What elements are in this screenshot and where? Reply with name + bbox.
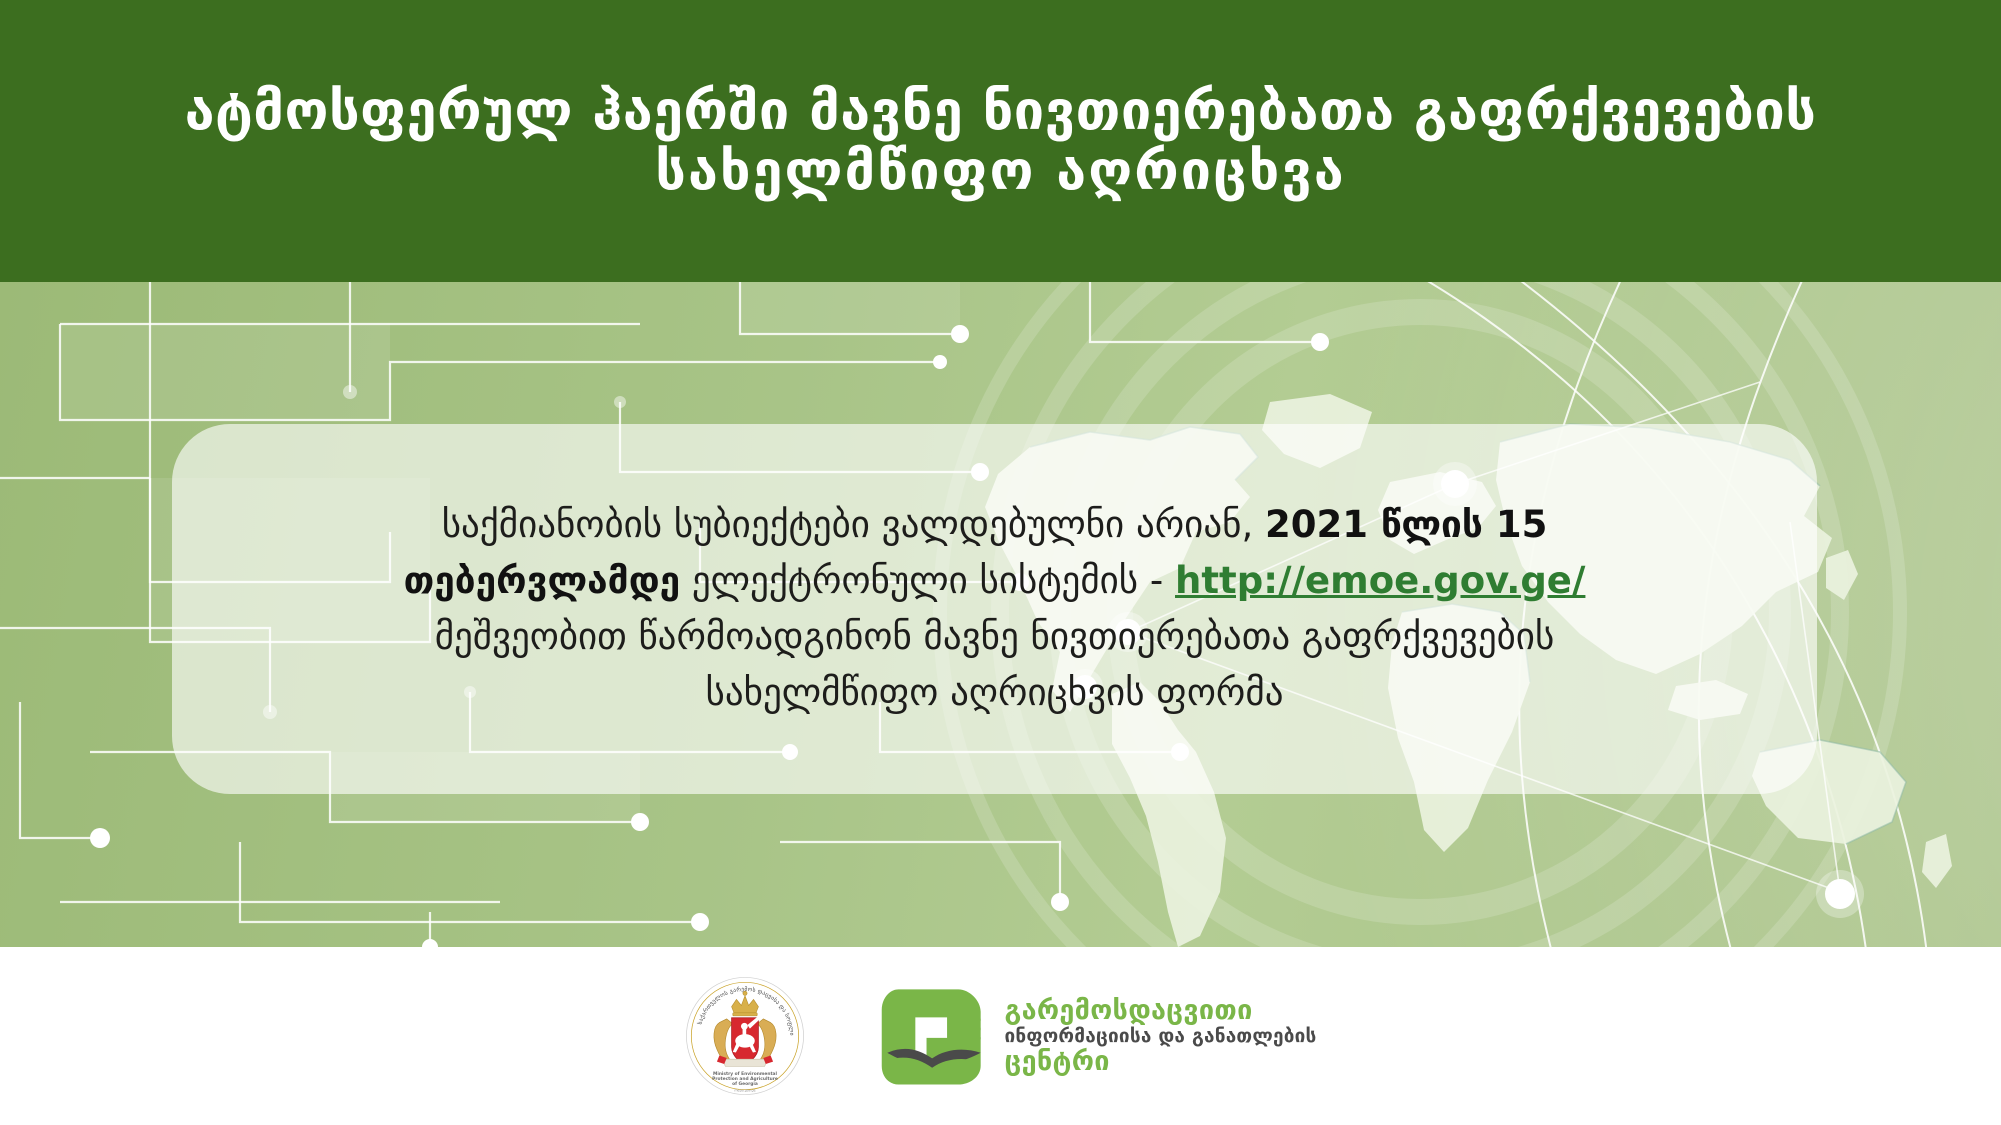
announcement-line-4: სახელმწიფო აღრიცხვის ფორმა [242,665,1747,721]
announcement-card: საქმიანობის სუბიექტები ვალდებულნი არიან,… [172,424,1817,794]
svg-text:mepa.gov.ge: mepa.gov.ge [735,1089,756,1093]
eiec-mark-icon [878,980,990,1092]
svg-text:Protection and Agriculture: Protection and Agriculture [713,1076,779,1082]
deadline-month: თებერვლამდე [404,559,681,602]
eiec-text-line-3: ცენტრი [1004,1048,1316,1075]
ministry-emblem-icon: საქართველოს გარემოს დაცვისა და სოფლის მე… [684,975,806,1097]
svg-text:Ministry of Environmental: Ministry of Environmental [713,1071,778,1077]
eiec-logo-text: გარემოსდაცვითი ინფორმაციისა და განათლები… [1004,997,1316,1075]
svg-text:of Georgia: of Georgia [733,1081,759,1087]
eiec-logo: გარემოსდაცვითი ინფორმაციისა და განათლები… [878,980,1316,1092]
footer-logos: საქართველოს გარემოს დაცვისა და სოფლის მე… [0,947,2001,1125]
announcement-line-3: მეშვეობით წარმოადგინონ მავნე ნივთიერებათ… [242,609,1747,665]
header-title-line-2: სახელმწიფო აღრიცხვა [655,141,1345,201]
eiec-text-line-1: გარემოსდაცვითი [1004,997,1316,1024]
eiec-text-line-2: ინფორმაციისა და განათლების [1004,1027,1316,1046]
header-title-line-1: ატმოსფერულ ჰაერში მავნე ნივთიერებათა გაფ… [185,81,1817,141]
announcement-line-1: საქმიანობის სუბიექტები ვალდებულნი არიან,… [242,497,1747,553]
announcement-line-1-text: საქმიანობის სუბიექტები ვალდებულნი არიან, [442,503,1265,546]
deadline-date: 2021 წლის 15 [1265,503,1547,546]
announcement-line-2: თებერვლამდე ელექტრონული სისტემის - http:… [242,553,1747,609]
header-banner: ატმოსფერულ ჰაერში მავნე ნივთიერებათა გაფ… [0,0,2001,282]
emoe-portal-link[interactable]: http://emoe.gov.ge/ [1175,559,1585,602]
banner-canvas: ატმოსფერულ ჰაერში მავნე ნივთიერებათა გაფ… [0,0,2001,1125]
ministry-logo: საქართველოს გარემოს დაცვისა და სოფლის მე… [684,975,806,1097]
announcement-card-content: საქმიანობის სუბიექტები ვალდებულნი არიან,… [172,497,1817,722]
announcement-line-2-text: ელექტრონული სისტემის - [680,559,1175,602]
